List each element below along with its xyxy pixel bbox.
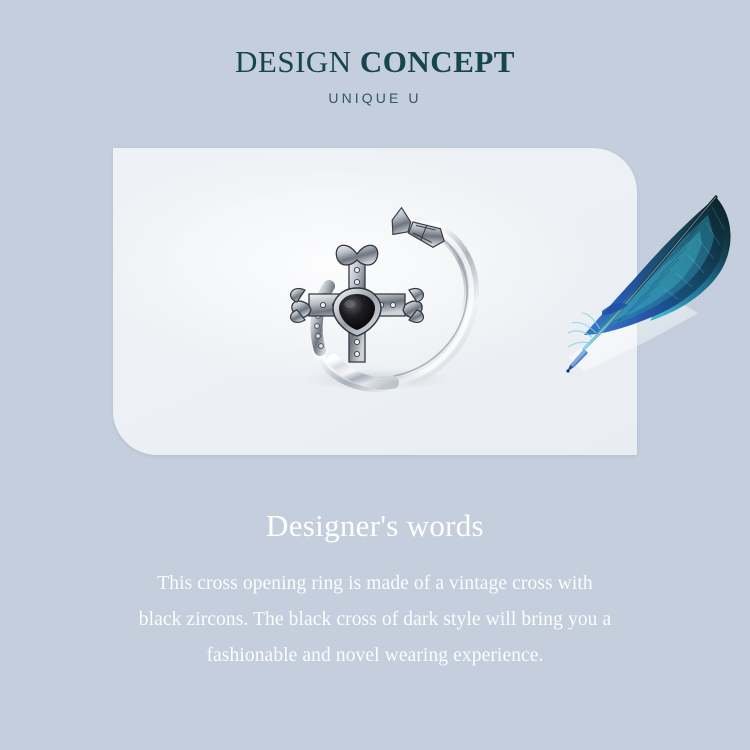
product-card: Brynn [113, 148, 637, 455]
title-word-concept: CONCEPT [360, 44, 515, 79]
page-root: DESIGN CONCEPT UNIQUE U [0, 0, 750, 750]
ring-shadow [301, 368, 451, 390]
title-word-design: DESIGN [235, 44, 352, 79]
designer-words-line-3: fashionable and novel wearing experience… [105, 638, 645, 674]
page-title: DESIGN CONCEPT [0, 46, 750, 79]
designer-words-line-1: This cross opening ring is made of a vin… [105, 566, 645, 602]
page-subtitle: UNIQUE U [0, 90, 750, 106]
header: DESIGN CONCEPT UNIQUE U [0, 46, 750, 106]
designer-words-section: Designer's words This cross opening ring… [0, 508, 750, 674]
designer-words-body: This cross opening ring is made of a vin… [105, 566, 645, 674]
designer-words-heading: Designer's words [0, 508, 750, 544]
cross-ring-image [273, 200, 503, 415]
designer-words-line-2: black zircons. The black cross of dark s… [105, 602, 645, 638]
